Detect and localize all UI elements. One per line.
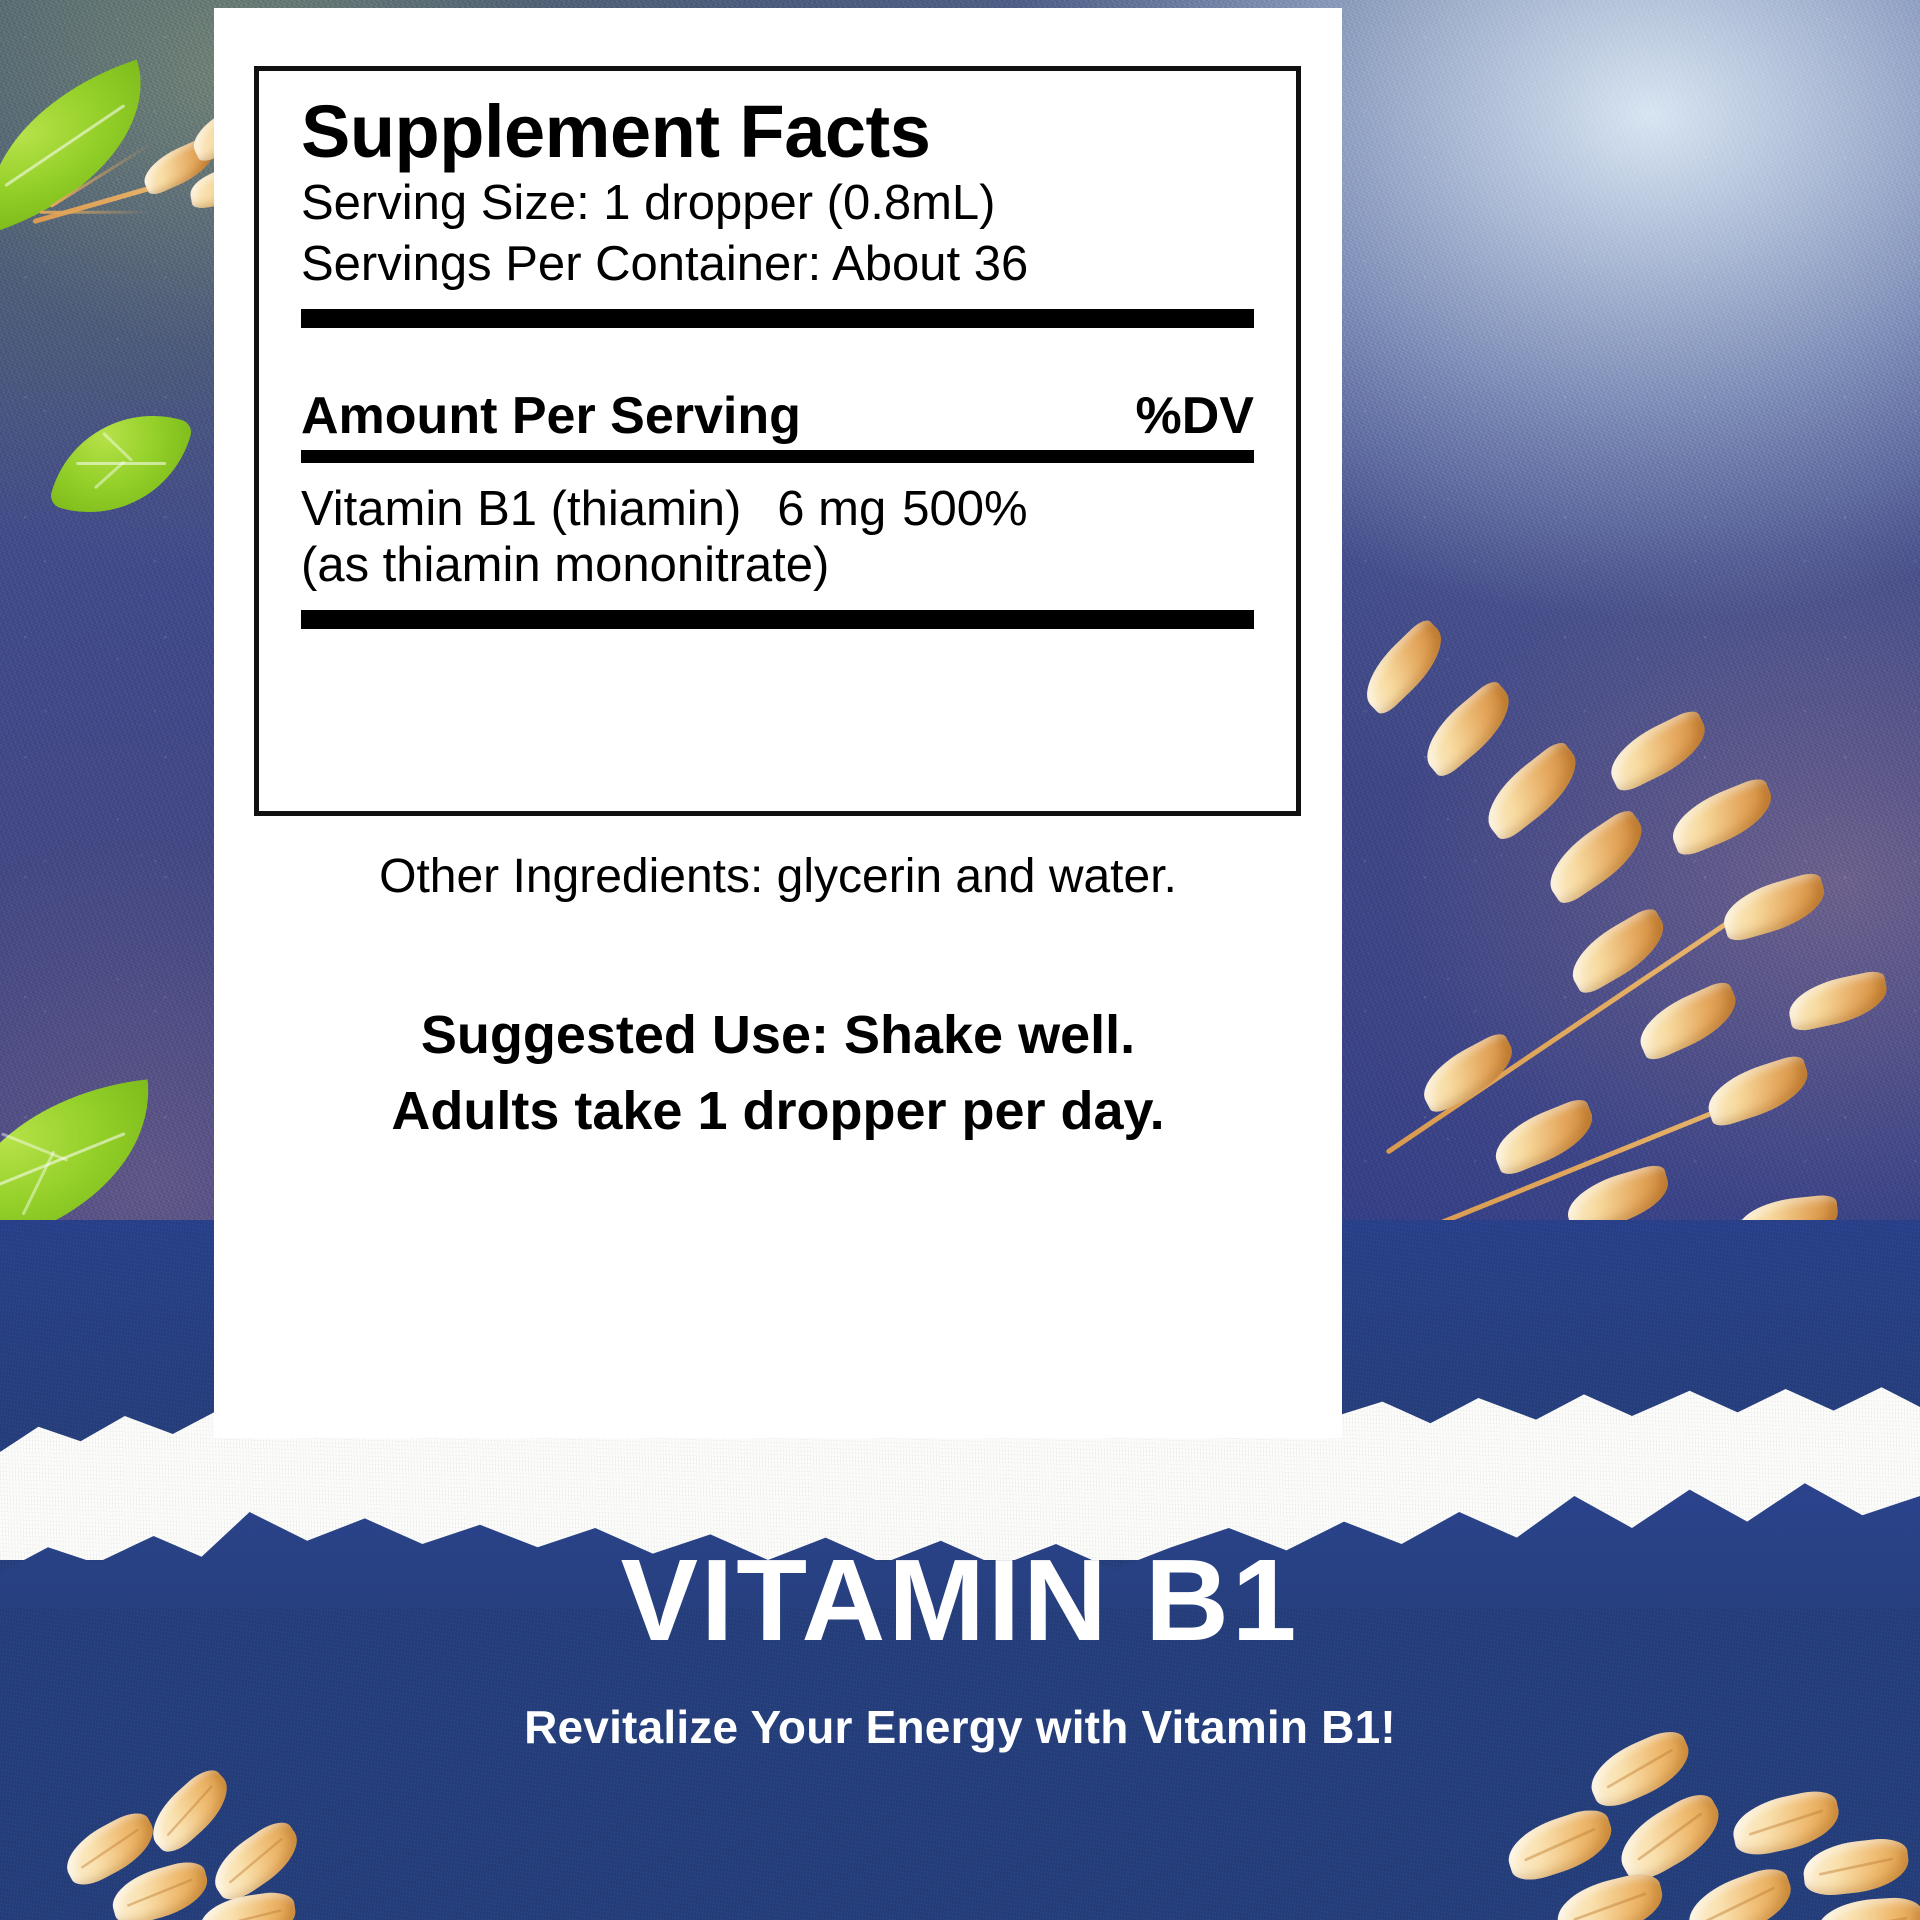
nutrient-source: (as thiamin mononitrate)	[301, 537, 1254, 595]
suggested-use-block: Suggested Use: Shake well. Adults take 1…	[214, 998, 1342, 1149]
spacer	[301, 328, 1254, 386]
divider-thick-top	[301, 309, 1254, 328]
divider-medium	[301, 450, 1254, 463]
nutrient-amount: 6 mg	[777, 481, 886, 537]
serving-size-line: Serving Size: 1 dropper (0.8mL)	[301, 173, 1254, 234]
nutrient-name: Vitamin B1 (thiamin)	[301, 481, 741, 537]
divider-thick-bottom	[301, 610, 1254, 629]
other-ingredients-text: Other Ingredients: glycerin and water.	[214, 848, 1342, 906]
supplement-facts-box: Supplement Facts Serving Size: 1 dropper…	[254, 66, 1301, 816]
suggested-use-line-1: Suggested Use: Shake well.	[214, 998, 1342, 1074]
product-headline: VITAMIN B1	[0, 1540, 1920, 1662]
supplement-label-card: Supplement Facts Serving Size: 1 dropper…	[214, 8, 1342, 1438]
promo-image: Supplement Facts Serving Size: 1 dropper…	[0, 0, 1920, 1920]
daily-value-label: %DV	[1136, 386, 1254, 446]
supplement-facts-title: Supplement Facts	[301, 95, 1254, 169]
nutrient-daily-value: 500%	[902, 481, 1027, 537]
nutrient-row: Vitamin B1 (thiamin) 6 mg 500%	[301, 481, 1254, 537]
amount-per-serving-label: Amount Per Serving	[301, 386, 801, 446]
product-tagline: Revitalize Your Energy with Vitamin B1!	[0, 1700, 1920, 1754]
servings-per-container-line: Servings Per Container: About 36	[301, 234, 1254, 295]
suggested-use-line-2: Adults take 1 dropper per day.	[214, 1074, 1342, 1150]
amount-per-serving-header-row: Amount Per Serving %DV	[301, 386, 1254, 450]
